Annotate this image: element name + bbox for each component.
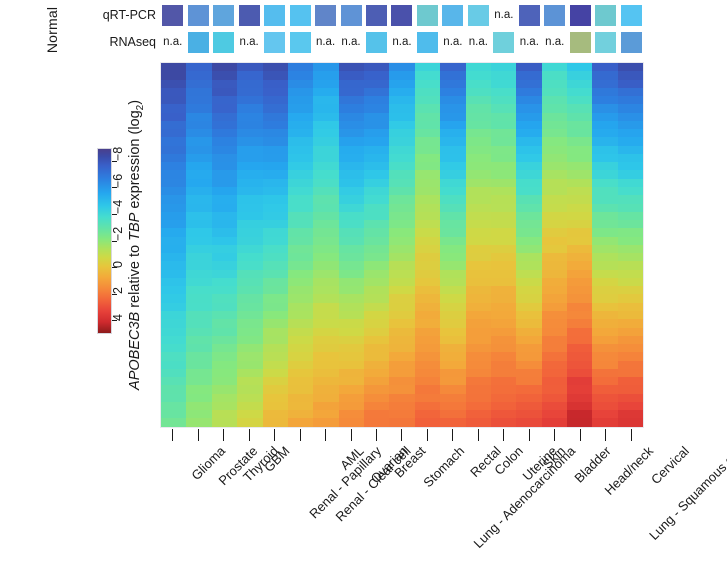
heatmap-cell: [440, 402, 465, 410]
heatmap-cell: [466, 418, 491, 426]
heatmap-column: [237, 63, 262, 427]
heatmap-cell: [288, 195, 313, 203]
heatmap-cell: [186, 154, 211, 162]
heatmap-cell: [415, 410, 440, 418]
heatmap-cell: [263, 63, 288, 71]
annotation-swatch: [239, 5, 260, 26]
heatmap-cell: [288, 170, 313, 178]
annotation-swatch: [570, 5, 591, 26]
heatmap-cell: [212, 129, 237, 137]
heatmap-cell: [288, 336, 313, 344]
heatmap-cell: [237, 319, 262, 327]
heatmap-cell: [516, 410, 541, 418]
heatmap-cell: [542, 129, 567, 137]
heatmap-cell: [516, 220, 541, 228]
annotation-cell: [185, 30, 210, 54]
annotation-swatch: [366, 5, 387, 26]
heatmap-cell: [567, 237, 592, 245]
heatmap-cell: [288, 154, 313, 162]
heatmap-cell: [237, 385, 262, 393]
heatmap-cell: [389, 385, 414, 393]
heatmap-column: [466, 63, 491, 427]
heatmap-cell: [288, 369, 313, 377]
x-axis-label: Cervical: [649, 444, 692, 487]
heatmap-cell: [542, 261, 567, 269]
heatmap-cell: [288, 377, 313, 385]
annotation-cell: [364, 3, 389, 27]
annotation-swatch: [264, 32, 285, 53]
heatmap-cell: [161, 104, 186, 112]
heatmap-cell: [186, 96, 211, 104]
heatmap-column: [567, 63, 592, 427]
heatmap-cell: [466, 121, 491, 129]
heatmap-cell: [212, 319, 237, 327]
heatmap-cell: [389, 237, 414, 245]
heatmap-cell: [161, 328, 186, 336]
heatmap-cell: [567, 179, 592, 187]
heatmap-cell: [415, 303, 440, 311]
heatmap-cell: [186, 104, 211, 112]
annotation-cell: [568, 3, 593, 27]
heatmap-cell: [186, 303, 211, 311]
heatmap-cell: [415, 228, 440, 236]
heatmap-cell: [592, 96, 617, 104]
heatmap-cell: [364, 352, 389, 360]
annotation-swatch: [264, 5, 285, 26]
heatmap-cell: [364, 104, 389, 112]
annotation-swatch: [213, 5, 234, 26]
heatmap-cell: [542, 311, 567, 319]
heatmap-cell: [212, 121, 237, 129]
heatmap-cell: [415, 418, 440, 426]
heatmap-cell: [212, 146, 237, 154]
heatmap-cell: [288, 137, 313, 145]
heatmap-column: [161, 63, 186, 427]
heatmap-cell: [339, 220, 364, 228]
heatmap-cell: [237, 137, 262, 145]
heatmap-cell: [491, 394, 516, 402]
heatmap-cell: [161, 294, 186, 302]
heatmap-cell: [364, 261, 389, 269]
heatmap-cell: [364, 80, 389, 88]
heatmap-cell: [567, 286, 592, 294]
heatmap-cell: [440, 319, 465, 327]
heatmap-cell: [516, 237, 541, 245]
heatmap-cell: [542, 212, 567, 220]
annotation-cell: [389, 3, 414, 27]
heatmap-cell: [313, 361, 338, 369]
heatmap-cell: [212, 162, 237, 170]
heatmap-cell: [288, 319, 313, 327]
heatmap-column: [263, 63, 288, 427]
heatmap-cell: [592, 129, 617, 137]
heatmap-cell: [516, 104, 541, 112]
heatmap-cell: [491, 352, 516, 360]
heatmap-cell: [313, 328, 338, 336]
heatmap-cell: [389, 88, 414, 96]
heatmap-cell: [491, 121, 516, 129]
heatmap-cell: [389, 187, 414, 195]
heatmap-cell: [389, 104, 414, 112]
heatmap-cell: [415, 278, 440, 286]
heatmap-cell: [389, 394, 414, 402]
heatmap-cell: [466, 71, 491, 79]
heatmap-cell: [313, 220, 338, 228]
heatmap-cell: [186, 319, 211, 327]
heatmap-cell: [263, 154, 288, 162]
annotation-cell: n.a.: [236, 30, 261, 54]
heatmap-cell: [516, 195, 541, 203]
heatmap-cell: [440, 129, 465, 137]
heatmap-cell: [212, 418, 237, 426]
heatmap-cell: [389, 402, 414, 410]
heatmap-cell: [389, 245, 414, 253]
heatmap-column: [212, 63, 237, 427]
heatmap-cell: [263, 319, 288, 327]
heatmap-cell: [339, 270, 364, 278]
heatmap-cell: [313, 369, 338, 377]
heatmap-cell: [516, 361, 541, 369]
heatmap-cell: [313, 121, 338, 129]
heatmap-cell: [592, 369, 617, 377]
heatmap-cell: [339, 195, 364, 203]
heatmap-cell: [516, 394, 541, 402]
heatmap-cell: [212, 170, 237, 178]
heatmap-cell: [415, 104, 440, 112]
heatmap-cell: [466, 113, 491, 121]
heatmap-cell: [415, 162, 440, 170]
heatmap-cell: [263, 88, 288, 96]
heatmap-cell: [618, 394, 643, 402]
heatmap-cell: [288, 204, 313, 212]
heatmap-cell: [592, 195, 617, 203]
heatmap-cell: [237, 311, 262, 319]
heatmap-cell: [263, 385, 288, 393]
heatmap-cell: [339, 162, 364, 170]
heatmap-cell: [491, 154, 516, 162]
heatmap-cell: [288, 344, 313, 352]
heatmap-cell: [288, 187, 313, 195]
heatmap-cell: [567, 71, 592, 79]
heatmap-cell: [237, 278, 262, 286]
heatmap-cell: [237, 377, 262, 385]
heatmap-cell: [389, 220, 414, 228]
heatmap-cell: [263, 261, 288, 269]
heatmap-cell: [237, 402, 262, 410]
heatmap-cell: [288, 220, 313, 228]
heatmap-cell: [212, 104, 237, 112]
heatmap-cell: [339, 63, 364, 71]
heatmap-cell: [491, 63, 516, 71]
heatmap-cell: [567, 187, 592, 195]
heatmap-cell: [440, 294, 465, 302]
heatmap-cell: [466, 294, 491, 302]
heatmap-cell: [212, 270, 237, 278]
heatmap-cell: [263, 418, 288, 426]
annotation-cell: [593, 3, 618, 27]
heatmap-cell: [592, 137, 617, 145]
heatmap-column: [186, 63, 211, 427]
heatmap-cell: [237, 212, 262, 220]
annotation-cell: [415, 3, 440, 27]
heatmap-cell: [466, 195, 491, 203]
heatmap-cell: [263, 187, 288, 195]
heatmap-cell: [592, 204, 617, 212]
heatmap-column: [339, 63, 364, 427]
heatmap-cell: [263, 146, 288, 154]
heatmap-cell: [415, 187, 440, 195]
heatmap-cell: [389, 63, 414, 71]
heatmap-cell: [263, 336, 288, 344]
heatmap-cell: [618, 137, 643, 145]
heatmap-cell: [186, 261, 211, 269]
heatmap-cell: [263, 204, 288, 212]
heatmap-cell: [389, 410, 414, 418]
heatmap-cell: [186, 377, 211, 385]
heatmap-cell: [516, 113, 541, 121]
heatmap-cell: [237, 162, 262, 170]
heatmap-cell: [212, 187, 237, 195]
heatmap-cell: [313, 352, 338, 360]
heatmap-cell: [516, 121, 541, 129]
heatmap-cell: [516, 336, 541, 344]
heatmap-cell: [542, 385, 567, 393]
heatmap-cell: [313, 377, 338, 385]
heatmap-cell: [313, 261, 338, 269]
heatmap-cell: [161, 179, 186, 187]
heatmap-cell: [440, 237, 465, 245]
heatmap-cell: [440, 245, 465, 253]
heatmap-cell: [313, 344, 338, 352]
heatmap-cell: [313, 319, 338, 327]
heatmap-cell: [313, 80, 338, 88]
heatmap-cell: [466, 319, 491, 327]
heatmap-cell: [212, 410, 237, 418]
heatmap-cell: [466, 286, 491, 294]
heatmap-cell: [389, 129, 414, 137]
heatmap-cell: [516, 261, 541, 269]
heatmap-cell: [186, 228, 211, 236]
heatmap-cell: [237, 170, 262, 178]
heatmap-cell: [288, 71, 313, 79]
heatmap-cell: [237, 369, 262, 377]
heatmap-cell: [364, 270, 389, 278]
heatmap-cell: [339, 179, 364, 187]
heatmap-cell: [389, 71, 414, 79]
heatmap-cell: [263, 410, 288, 418]
heatmap-cell: [567, 129, 592, 137]
heatmap-cell: [592, 418, 617, 426]
annotation-swatch: [621, 32, 642, 53]
heatmap-cell: [567, 113, 592, 121]
heatmap-cell: [161, 286, 186, 294]
heatmap-cell: [440, 195, 465, 203]
heatmap-cell: [389, 261, 414, 269]
heatmap-cell: [212, 71, 237, 79]
heatmap-cell: [440, 121, 465, 129]
heatmap-cell: [542, 146, 567, 154]
heatmap-cell: [161, 369, 186, 377]
heatmap-cell: [542, 204, 567, 212]
heatmap-cell: [415, 80, 440, 88]
heatmap-cell: [415, 88, 440, 96]
heatmap-cell: [440, 352, 465, 360]
heatmap-cell: [567, 344, 592, 352]
heatmap-cell: [186, 410, 211, 418]
annotation-swatch: [519, 5, 540, 26]
heatmap-cell: [313, 179, 338, 187]
heatmap-cell: [389, 344, 414, 352]
normal-group-label: Normal: [44, 2, 60, 58]
heatmap-cell: [567, 146, 592, 154]
heatmap-cell: [339, 71, 364, 79]
heatmap-cell: [263, 96, 288, 104]
heatmap-cell: [491, 220, 516, 228]
heatmap-cell: [466, 402, 491, 410]
heatmap-cell: [466, 253, 491, 261]
heatmap-cell: [592, 113, 617, 121]
heatmap-cell: [339, 286, 364, 294]
heatmap-cell: [415, 195, 440, 203]
heatmap-cell: [212, 154, 237, 162]
heatmap-cell: [339, 361, 364, 369]
heatmap-column: [364, 63, 389, 427]
heatmap-cell: [212, 137, 237, 145]
heatmap-cell: [161, 212, 186, 220]
heatmap-cell: [237, 328, 262, 336]
heatmap-cell: [186, 418, 211, 426]
heatmap-cell: [313, 146, 338, 154]
heatmap-cell: [186, 328, 211, 336]
heatmap-cell: [466, 270, 491, 278]
annotation-swatch: [544, 5, 565, 26]
heatmap-cell: [186, 369, 211, 377]
heatmap-cell: [516, 344, 541, 352]
heatmap-cell: [466, 204, 491, 212]
heatmap-cell: [415, 352, 440, 360]
heatmap-cell: [516, 402, 541, 410]
heatmap-cell: [440, 361, 465, 369]
heatmap-cell: [415, 319, 440, 327]
heatmap-cell: [364, 328, 389, 336]
heatmap-cell: [516, 88, 541, 96]
heatmap-cell: [466, 352, 491, 360]
heatmap-cell: [567, 328, 592, 336]
heatmap-cell: [389, 303, 414, 311]
heatmap-cell: [491, 385, 516, 393]
heatmap-cell: [516, 204, 541, 212]
heatmap-cell: [415, 328, 440, 336]
heatmap-cell: [618, 228, 643, 236]
heatmap-cell: [618, 204, 643, 212]
heatmap-cell: [542, 278, 567, 286]
heatmap-cell: [186, 245, 211, 253]
heatmap-cell: [440, 270, 465, 278]
heatmap-cell: [364, 187, 389, 195]
heatmap-column: [491, 63, 516, 427]
heatmap-cell: [466, 311, 491, 319]
heatmap-cell: [313, 237, 338, 245]
heatmap-cell: [542, 303, 567, 311]
heatmap-cell: [237, 204, 262, 212]
heatmap-cell: [288, 212, 313, 220]
heatmap-cell: [186, 179, 211, 187]
heatmap-cell: [364, 402, 389, 410]
heatmap-cell: [440, 137, 465, 145]
heatmap-cell: [592, 88, 617, 96]
heatmap-cell: [263, 352, 288, 360]
heatmap-cell: [161, 137, 186, 145]
heatmap-cell: [542, 220, 567, 228]
heatmap-cell: [466, 170, 491, 178]
heatmap-cell: [415, 170, 440, 178]
heatmap-cell: [491, 377, 516, 385]
heatmap-cell: [364, 88, 389, 96]
heatmap-cell: [618, 170, 643, 178]
heatmap-cell: [364, 204, 389, 212]
heatmap-cell: [364, 129, 389, 137]
heatmap-cell: [263, 170, 288, 178]
heatmap-cell: [440, 228, 465, 236]
heatmap-cell: [339, 204, 364, 212]
heatmap-cell: [212, 394, 237, 402]
heatmap-cell: [389, 319, 414, 327]
heatmap-cell: [263, 245, 288, 253]
heatmap-cell: [161, 261, 186, 269]
annotation-cell: [185, 3, 210, 27]
heatmap-cell: [491, 245, 516, 253]
heatmap-cell: [542, 286, 567, 294]
heatmap-cell: [415, 286, 440, 294]
heatmap-cell: [263, 361, 288, 369]
heatmap-cell: [313, 253, 338, 261]
figure-canvas: Normal qRT-PCR RNAseq n.a. n.a.n.a.n.a.n…: [0, 0, 727, 569]
heatmap-cell: [389, 113, 414, 121]
heatmap-cell: [263, 278, 288, 286]
annotation-cell: [313, 3, 338, 27]
heatmap-cell: [364, 303, 389, 311]
heatmap-cell: [415, 311, 440, 319]
heatmap-cell: [389, 212, 414, 220]
heatmap-cell: [161, 319, 186, 327]
heatmap-cell: [237, 410, 262, 418]
heatmap-cell: [592, 121, 617, 129]
heatmap-cell: [542, 352, 567, 360]
annotation-row-label-qrtpcr-text: qRT-PCR: [103, 8, 156, 22]
x-axis-label: Stomach: [421, 444, 467, 490]
heatmap-cell: [339, 344, 364, 352]
heatmap-cell: [389, 146, 414, 154]
annotation-cell: [568, 30, 593, 54]
heatmap-cell: [288, 179, 313, 187]
heatmap-cell: [542, 410, 567, 418]
heatmap-cell: [364, 336, 389, 344]
heatmap-cell: [212, 63, 237, 71]
heatmap-cell: [263, 228, 288, 236]
heatmap-cell: [339, 253, 364, 261]
annotation-swatch: [341, 5, 362, 26]
heatmap-cell: [339, 104, 364, 112]
heatmap-cell: [491, 88, 516, 96]
heatmap-cell: [288, 80, 313, 88]
heatmap-cell: [161, 220, 186, 228]
heatmap-cell: [313, 63, 338, 71]
heatmap-cell: [567, 96, 592, 104]
heatmap-cell: [288, 311, 313, 319]
heatmap-cell: [288, 121, 313, 129]
heatmap-cell: [466, 187, 491, 195]
heatmap-cell: [440, 220, 465, 228]
